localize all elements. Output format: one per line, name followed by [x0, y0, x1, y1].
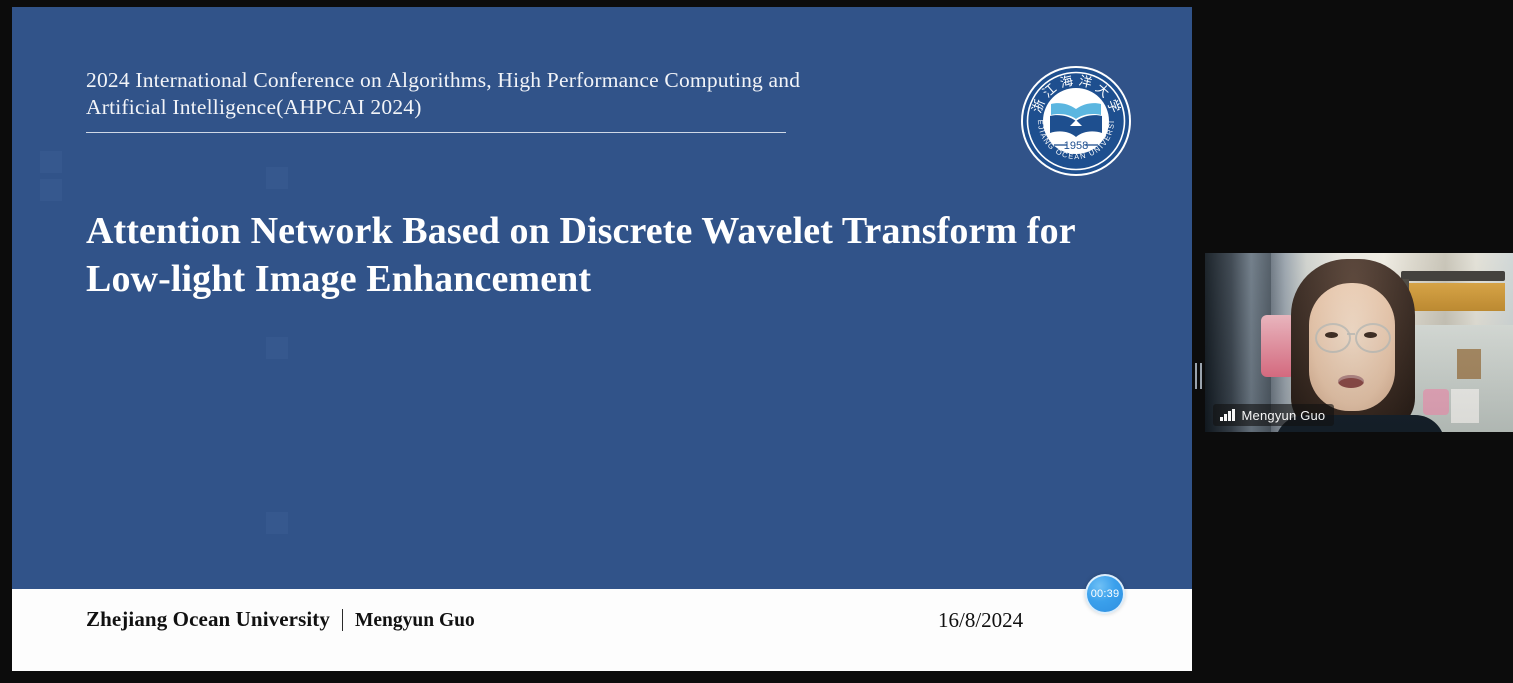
- signal-bar: [1224, 414, 1227, 421]
- footer-separator: [342, 609, 343, 631]
- presentation-timer-badge[interactable]: 00:39: [1085, 574, 1125, 614]
- webcam-tile[interactable]: Mengyun Guo: [1205, 253, 1513, 432]
- background-watermark-square: [40, 151, 62, 173]
- signal-bar: [1232, 409, 1235, 421]
- conference-header: 2024 International Conference on Algorit…: [86, 67, 806, 121]
- panel-drag-handle[interactable]: [1194, 363, 1203, 389]
- slide-footer: Zhejiang Ocean University Mengyun Guo 16…: [12, 589, 1192, 671]
- background-watermark-square: [266, 337, 288, 359]
- svg-text:1958: 1958: [1064, 140, 1088, 152]
- footer-credits: Zhejiang Ocean University Mengyun Guo: [86, 607, 475, 632]
- background-watermark-square: [266, 512, 288, 534]
- participant-name-label: Mengyun Guo: [1213, 404, 1334, 426]
- organization-name: Zhejiang Ocean University: [86, 607, 330, 632]
- slide-date: 16/8/2024: [938, 608, 1023, 633]
- handle-line: [1195, 363, 1197, 389]
- presenter-name: Mengyun Guo: [355, 610, 475, 632]
- signal-bars-icon: [1220, 409, 1235, 421]
- background-watermark-square: [266, 167, 288, 189]
- signal-bar: [1220, 417, 1223, 421]
- participant-name: Mengyun Guo: [1242, 408, 1326, 423]
- background-watermark-square: [40, 179, 62, 201]
- signal-bar: [1228, 411, 1231, 421]
- header-divider: [86, 132, 786, 133]
- timer-label: 00:39: [1091, 588, 1120, 600]
- page-title: Attention Network Based on Discrete Wave…: [86, 207, 1106, 303]
- zhejiang-ocean-university-logo: 浙 江 海 洋 大 学 ZHEJIANG OCEAN UNIVERSITY 19…: [1020, 65, 1132, 177]
- meeting-screen: 2024 International Conference on Algorit…: [0, 0, 1513, 683]
- handle-line: [1200, 363, 1202, 389]
- presentation-slide[interactable]: 2024 International Conference on Algorit…: [12, 7, 1192, 671]
